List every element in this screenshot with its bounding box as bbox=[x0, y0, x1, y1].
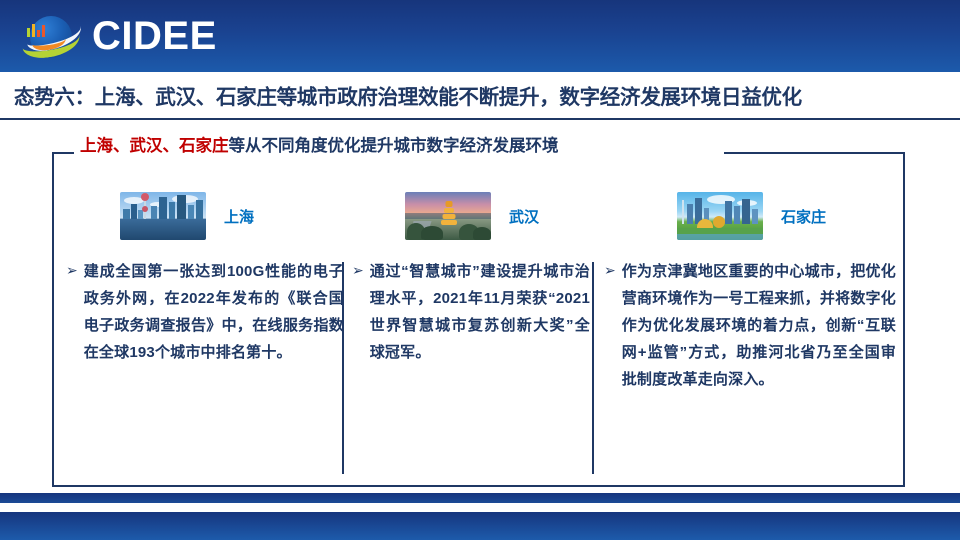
column-shijiazhuang: ➢ 作为京津冀地区重要的中心城市，把优化营商环境作为一号工程来抓，并将数字化作为… bbox=[604, 258, 896, 393]
column-wuhan: ➢ 通过“智慧城市”建设提升城市治理水平，2021年11月荣获“2021世界智慧… bbox=[352, 258, 590, 366]
column-divider-1 bbox=[342, 262, 344, 474]
section-subtitle: 上海、武汉、石家庄等从不同角度优化提升城市数字经济发展环境 bbox=[80, 138, 559, 155]
subtitle-highlight: 上海、武汉、石家庄 bbox=[80, 137, 229, 155]
city-label-wuhan: 武汉 bbox=[509, 206, 539, 227]
footer-bar-thick bbox=[0, 512, 960, 540]
shijiazhuang-photo bbox=[677, 192, 763, 240]
title-underline-rule bbox=[0, 118, 960, 120]
logo-bars-icon bbox=[27, 21, 49, 37]
page-title: 态势六：上海、武汉、石家庄等城市政府治理效能不断提升，数字经济发展环境日益优化 bbox=[14, 80, 802, 110]
city-shijiazhuang: 石家庄 bbox=[677, 192, 826, 240]
column-text-wuhan: 通过“智慧城市”建设提升城市治理水平，2021年11月荣获“2021世界智慧城市… bbox=[370, 258, 590, 366]
city-header-row: 上海 武汉 石家庄 bbox=[52, 192, 905, 244]
content-columns: ➢ 建成全国第一张达到100G性能的电子政务外网，在2022年发布的《联合国电子… bbox=[52, 258, 905, 483]
city-wuhan: 武汉 bbox=[405, 192, 539, 240]
column-text-shijiazhuang: 作为京津冀地区重要的中心城市，把优化营商环境作为一号工程来抓，并将数字化作为优化… bbox=[622, 258, 896, 393]
cidee-logo-icon bbox=[14, 10, 88, 62]
subtitle-rest: 等从不同角度优化提升城市数字经济发展环境 bbox=[229, 137, 559, 155]
brand-name: CIDEE bbox=[92, 16, 217, 56]
wuhan-photo bbox=[405, 192, 491, 240]
column-text-shanghai: 建成全国第一张达到100G性能的电子政务外网，在2022年发布的《联合国电子政务… bbox=[84, 258, 344, 366]
slide-header: CIDEE bbox=[0, 0, 960, 72]
footer-bar-thin bbox=[0, 493, 960, 503]
column-shanghai: ➢ 建成全国第一张达到100G性能的电子政务外网，在2022年发布的《联合国电子… bbox=[66, 258, 344, 366]
bullet-arrow-icon: ➢ bbox=[66, 258, 78, 285]
bullet-arrow-icon: ➢ bbox=[604, 258, 616, 285]
slide-title-bar: 态势六：上海、武汉、石家庄等城市政府治理效能不断提升，数字经济发展环境日益优化 bbox=[0, 72, 960, 118]
city-label-shanghai: 上海 bbox=[224, 206, 254, 227]
column-divider-2 bbox=[592, 262, 594, 474]
city-shanghai: 上海 bbox=[120, 192, 254, 240]
city-label-shijiazhuang: 石家庄 bbox=[781, 206, 826, 227]
shanghai-photo bbox=[120, 192, 206, 240]
bullet-arrow-icon: ➢ bbox=[352, 258, 364, 285]
